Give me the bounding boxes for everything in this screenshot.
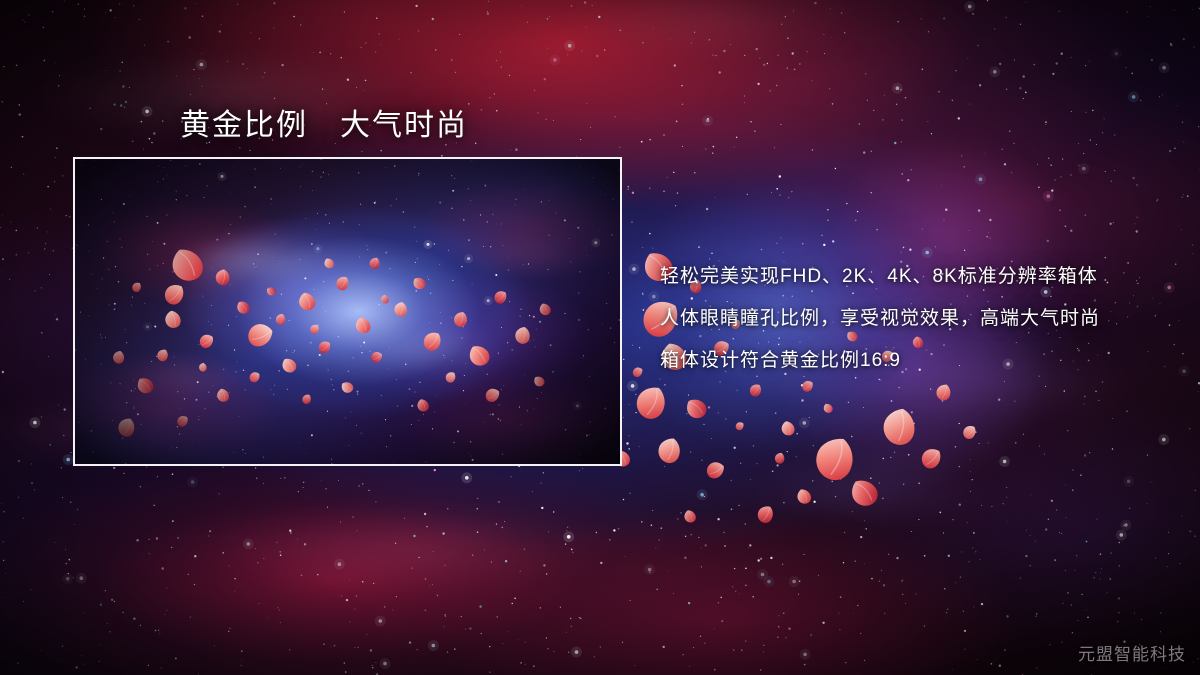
slide-title: 黄金比例 大气时尚	[180, 100, 468, 144]
brand-watermark: 元盟智能科技	[1078, 640, 1186, 665]
body-line-3: 箱体设计符合黄金比例16:9	[660, 340, 1170, 382]
framed-image-panel	[73, 157, 622, 466]
body-line-1: 轻松完美实现FHD、2K、4K、8K标准分辨率箱体	[660, 256, 1170, 298]
body-line-2: 人体眼睛瞳孔比例，享受视觉效果，高端大气时尚	[660, 298, 1170, 340]
presentation-slide: 黄金比例 大气时尚 轻松完美实现FHD、2K、4K、8K标准分辨率箱体 人体眼睛…	[0, 0, 1200, 675]
slide-body-copy: 轻松完美实现FHD、2K、4K、8K标准分辨率箱体 人体眼睛瞳孔比例，享受视觉效…	[660, 256, 1170, 382]
panel-vignette	[75, 159, 620, 464]
